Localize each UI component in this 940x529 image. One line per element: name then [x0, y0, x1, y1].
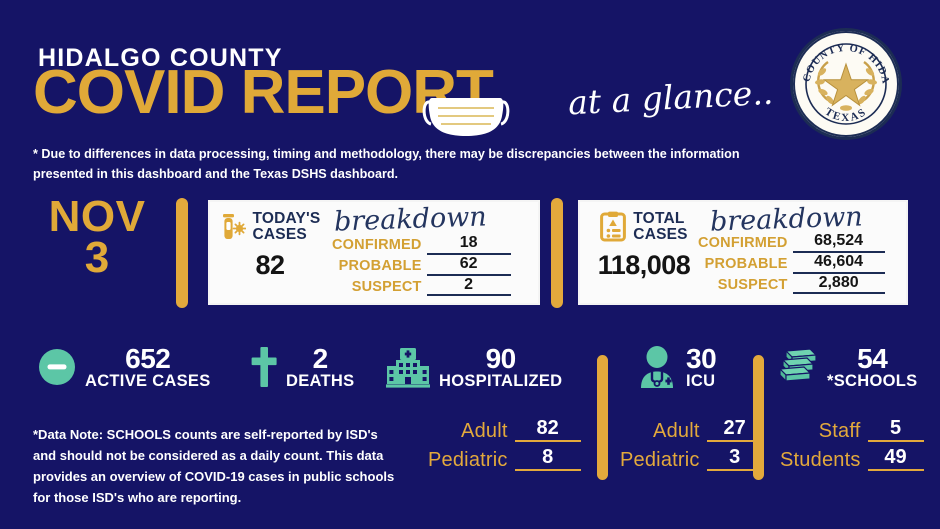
report-date-month: NOV — [32, 196, 162, 237]
todays-cases-card: TODAY'S CASES 82 breakdown CONFIRMED 18 … — [208, 200, 540, 305]
hidalgo-county-seal-icon: THE COUNTY OF HIDALGO TEXAS — [788, 26, 904, 142]
sub-value: 82 — [515, 418, 581, 442]
sub-row: Adult 82 — [428, 418, 581, 442]
breakdown-row: PROBABLE 46,604 — [698, 254, 885, 274]
face-mask-icon — [420, 82, 512, 144]
total-cases-card: TOTAL CASES 118,008 breakdown CONFIRMED … — [578, 200, 908, 305]
breakdown-row: CONFIRMED 68,524 — [698, 233, 885, 253]
schools-label: *SCHOOLS — [827, 373, 917, 390]
doctor-icon — [637, 346, 677, 388]
page-tagline: at a glance.. — [567, 73, 774, 123]
sub-value: 5 — [868, 418, 924, 442]
breakdown-row: CONFIRMED 18 — [332, 235, 511, 255]
stat-active-cases: 652 ACTIVE CASES — [38, 345, 211, 390]
data-disclaimer: * Due to differences in data processing,… — [33, 144, 753, 184]
deaths-number: 2 — [286, 345, 354, 373]
breakdown-label: CONFIRMED — [698, 235, 788, 252]
sub-label: Adult — [461, 420, 508, 442]
active-cases-label: ACTIVE CASES — [85, 373, 211, 390]
todays-cases-title-line1: TODAY'S — [253, 211, 321, 227]
divider-bar-hospitalized — [597, 355, 608, 480]
breakdown-value: 2,880 — [793, 275, 885, 295]
sub-row: Pediatric 8 — [428, 447, 581, 471]
breakdown-label: CONFIRMED — [332, 237, 422, 254]
divider-bar-date — [176, 198, 188, 308]
cross-icon — [251, 347, 277, 387]
total-cases-title-line1: TOTAL — [633, 211, 687, 227]
sub-label: Pediatric — [428, 449, 508, 471]
covid-report-infographic: HIDALGO COUNTY COVID REPORT at a glance.… — [0, 0, 940, 529]
test-vial-icon — [220, 212, 246, 242]
sub-label: Students — [780, 449, 861, 471]
stat-deaths: 2 DEATHS — [251, 345, 354, 390]
todays-breakdown-rows: CONFIRMED 18 PROBABLE 62 SUSPECT 2 — [332, 235, 511, 297]
total-breakdown-rows: CONFIRMED 68,524 PROBABLE 46,604 SUSPECT… — [698, 233, 885, 295]
breakdown-value: 2 — [427, 277, 511, 297]
sub-label: Pediatric — [620, 449, 700, 471]
todays-cases-heading: TODAY'S CASES — [220, 211, 321, 243]
total-cases-heading: TOTAL CASES — [600, 211, 687, 243]
breakdown-row: PROBABLE 62 — [332, 256, 511, 276]
breakdown-value: 46,604 — [793, 254, 885, 274]
stat-icu: 30 ICU — [637, 345, 716, 390]
sub-label: Staff — [819, 420, 861, 442]
clipboard-icon — [600, 211, 626, 242]
icu-label: ICU — [686, 373, 716, 390]
report-date-day: 3 — [32, 237, 162, 278]
breakdown-value: 62 — [427, 256, 511, 276]
schools-data-note: *Data Note: SCHOOLS counts are self-repo… — [33, 424, 403, 508]
stat-hospitalized: 90 HOSPITALIZED — [386, 345, 562, 390]
breakdown-row: SUSPECT 2,880 — [698, 275, 885, 295]
sub-value: 27 — [707, 418, 763, 442]
hospital-icon — [386, 346, 430, 388]
active-cases-number: 652 — [85, 345, 211, 373]
divider-bar-cards — [551, 198, 563, 308]
sub-value: 49 — [868, 447, 924, 471]
breakdown-row: SUSPECT 2 — [332, 277, 511, 297]
sub-value: 8 — [515, 447, 581, 471]
books-stack-icon — [776, 347, 818, 387]
schools-number: 54 — [827, 345, 917, 373]
todays-cases-title-line2: CASES — [253, 227, 321, 243]
breakdown-value: 68,524 — [793, 233, 885, 253]
total-cases-summary: TOTAL CASES 118,008 — [580, 202, 708, 303]
todays-cases-summary: TODAY'S CASES 82 — [210, 202, 330, 303]
sub-value: 3 — [707, 447, 763, 471]
todays-breakdown-title: breakdown — [334, 201, 488, 237]
icu-number: 30 — [686, 345, 716, 373]
breakdown-label: PROBABLE — [705, 256, 788, 273]
hospitalized-number: 90 — [439, 345, 562, 373]
schools-breakdown: Staff 5 Students 49 — [780, 418, 924, 476]
sub-row: Staff 5 — [780, 418, 924, 442]
breakdown-label: SUSPECT — [718, 277, 788, 294]
total-cases-title-line2: CASES — [633, 227, 687, 243]
total-cases-total: 118,008 — [598, 250, 691, 281]
deaths-label: DEATHS — [286, 373, 354, 390]
todays-cases-total: 82 — [255, 250, 284, 281]
hospitalized-breakdown: Adult 82 Pediatric 8 — [428, 418, 581, 476]
breakdown-label: SUSPECT — [352, 279, 422, 296]
sub-row: Adult 27 — [620, 418, 763, 442]
sub-row: Pediatric 3 — [620, 447, 763, 471]
sub-row: Students 49 — [780, 447, 924, 471]
stat-schools: 54 *SCHOOLS — [776, 345, 917, 390]
icu-breakdown: Adult 27 Pediatric 3 — [620, 418, 763, 476]
sub-label: Adult — [653, 420, 700, 442]
hospitalized-label: HOSPITALIZED — [439, 373, 562, 390]
breakdown-label: PROBABLE — [339, 258, 422, 275]
minus-circle-icon — [38, 348, 76, 386]
report-date: NOV 3 — [32, 196, 162, 279]
breakdown-value: 18 — [427, 235, 511, 255]
